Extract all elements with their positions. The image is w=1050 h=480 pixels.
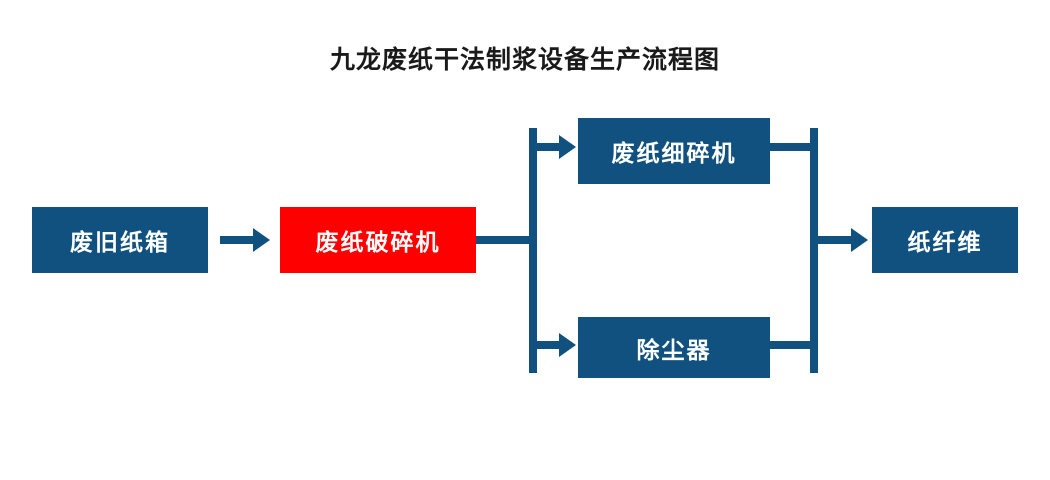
node-waste-paper-crusher[interactable]: 废纸破碎机 <box>280 207 476 273</box>
arrow-right-icon-to-fine-crusher <box>559 135 576 159</box>
arrow-shaft <box>220 236 256 244</box>
connector-branch-top <box>533 143 561 151</box>
arrow-shaft <box>820 236 854 244</box>
connector-merge-top <box>770 143 814 151</box>
arrow-right-icon-to-dust-collector <box>559 333 576 357</box>
page-title: 九龙废纸干法制浆设备生产流程图 <box>0 40 1050 76</box>
connector-left-bracket-spine <box>529 128 537 373</box>
arrow-head <box>253 228 270 252</box>
node-paper-fiber[interactable]: 纸纤维 <box>872 207 1018 273</box>
connector-branch-bottom <box>533 341 561 349</box>
node-fine-crusher[interactable]: 废纸细碎机 <box>578 118 770 184</box>
node-waste-carton[interactable]: 废旧纸箱 <box>32 207 208 273</box>
arrow-head <box>851 228 868 252</box>
connector-merge-bottom <box>770 341 814 349</box>
flowchart-canvas: 九龙废纸干法制浆设备生产流程图 废旧纸箱 废纸破碎机 废纸细碎机 除尘器 纸纤维 <box>0 0 1050 480</box>
node-dust-collector[interactable]: 除尘器 <box>578 317 770 378</box>
connector-right-bracket-spine <box>810 128 818 373</box>
connector-crusher-stub <box>476 236 532 244</box>
